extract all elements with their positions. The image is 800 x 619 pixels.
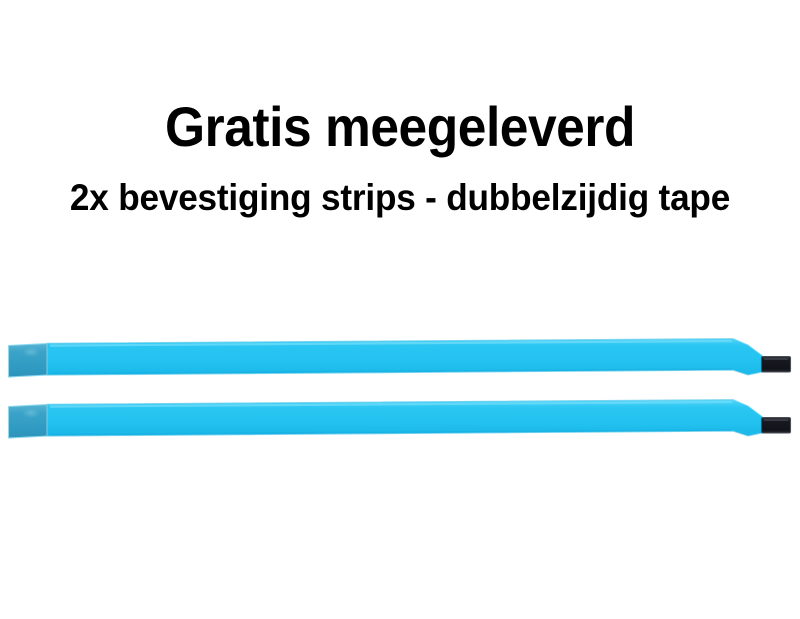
list-item [9,339,791,377]
promo-image-canvas: Gratis meegeleverd 2x bevestiging strips… [0,0,800,619]
adhesive-pull-tab [9,405,49,439]
pull-tab-highlight [22,347,40,357]
dark-end-tab-highlight [764,358,789,360]
product-strips-illustration [0,0,800,619]
dark-end-tab [762,357,791,373]
list-item [9,400,791,438]
dark-end-tab [762,418,791,434]
pull-tab-highlight [22,408,40,418]
adhesive-pull-tab [9,344,49,378]
dark-end-tab-highlight [764,419,789,421]
